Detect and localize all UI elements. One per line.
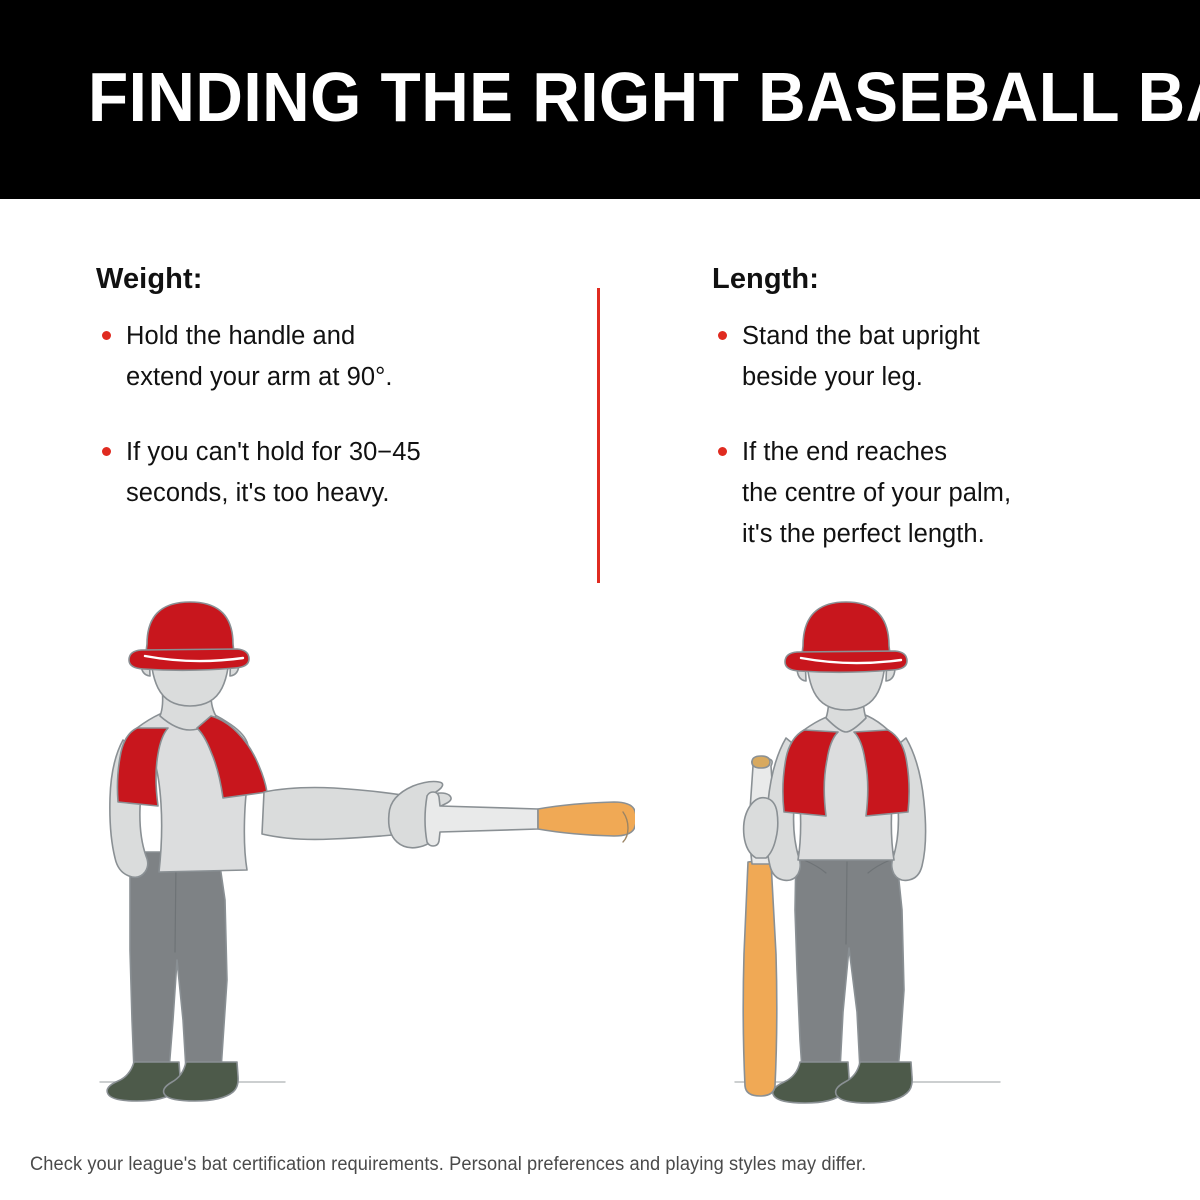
bat-knob bbox=[752, 756, 770, 768]
hand-grip bbox=[744, 798, 778, 858]
bullet-text: If you can't hold for 30−45 seconds, it'… bbox=[126, 432, 576, 514]
infographic-page: FINDING THE RIGHT BASEBALL BAT Weight: H… bbox=[0, 0, 1200, 1200]
bullet-dot-icon bbox=[718, 447, 727, 456]
column-divider bbox=[597, 288, 600, 583]
bat-barrel bbox=[538, 802, 635, 836]
text-columns: Weight: Hold the handle and extend your … bbox=[0, 262, 1200, 592]
header-band: FINDING THE RIGHT BASEBALL BAT bbox=[0, 0, 1200, 199]
pants bbox=[795, 852, 904, 1070]
list-item: Hold the handle and extend your arm at 9… bbox=[96, 316, 576, 398]
column-length-bullets: Stand the bat upright beside your leg. I… bbox=[712, 316, 1112, 555]
list-item: If you can't hold for 30−45 seconds, it'… bbox=[96, 432, 576, 514]
list-item: Stand the bat upright beside your leg. bbox=[712, 316, 1112, 398]
page-title: FINDING THE RIGHT BASEBALL BAT bbox=[88, 56, 1200, 138]
cap-crown bbox=[146, 602, 234, 652]
bat-barrel bbox=[743, 861, 777, 1096]
bullet-text: Stand the bat upright beside your leg. bbox=[742, 316, 1112, 398]
illustration-weight-test bbox=[55, 600, 635, 1115]
column-weight-heading: Weight: bbox=[96, 262, 576, 296]
cap-crown bbox=[802, 602, 890, 654]
column-length: Length: Stand the bat upright beside you… bbox=[712, 262, 1112, 555]
bullet-text: Hold the handle and extend your arm at 9… bbox=[126, 316, 576, 398]
column-weight-bullets: Hold the handle and extend your arm at 9… bbox=[96, 316, 576, 514]
bullet-text: If the end reaches the centre of your pa… bbox=[742, 432, 1112, 555]
pants bbox=[130, 852, 227, 1070]
column-weight: Weight: Hold the handle and extend your … bbox=[96, 262, 576, 514]
list-item: If the end reaches the centre of your pa… bbox=[712, 432, 1112, 555]
column-length-heading: Length: bbox=[712, 262, 1112, 296]
illustration-length-test bbox=[700, 600, 1020, 1115]
footer-note: Check your league's bat certification re… bbox=[30, 1152, 1124, 1178]
bullet-dot-icon bbox=[718, 331, 727, 340]
bullet-dot-icon bbox=[102, 447, 111, 456]
bullet-dot-icon bbox=[102, 331, 111, 340]
illustrations bbox=[0, 600, 1200, 1120]
